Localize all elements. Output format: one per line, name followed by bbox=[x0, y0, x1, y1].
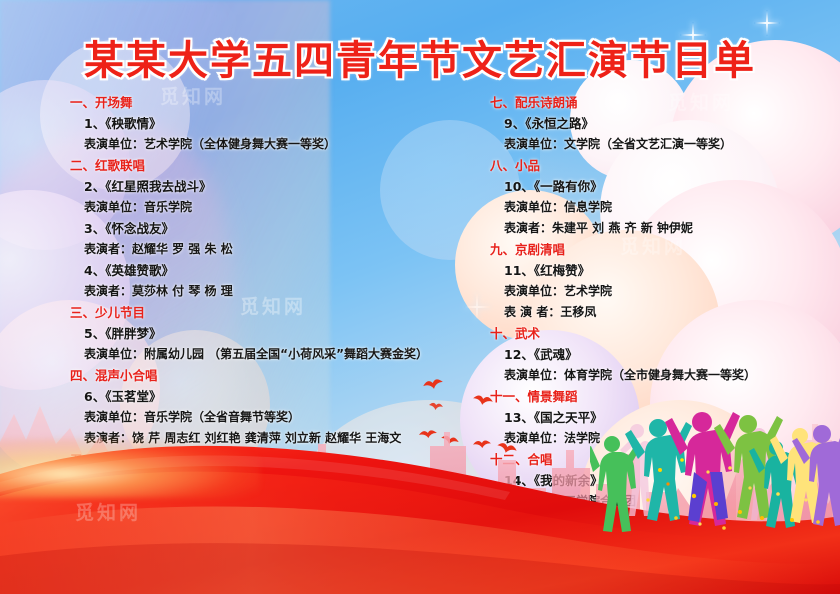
title-band: 某某大学五四青年节文艺汇演节目单 bbox=[0, 28, 840, 86]
program-category: 三、少儿节目 bbox=[70, 302, 425, 323]
program-credit: 表演单位：附属幼儿园 （第五届全国“小荷风采”舞蹈大赛金奖） bbox=[70, 344, 425, 365]
program-category: 四、混声小合唱 bbox=[70, 365, 425, 386]
dancer-silhouettes bbox=[590, 400, 840, 560]
poster-canvas: 某某大学五四青年节文艺汇演节目单 一、开场舞1、《秧歌情》表演单位：艺术学院（全… bbox=[0, 0, 840, 594]
program-item: 1、《秧歌情》 bbox=[70, 113, 425, 134]
program-category: 二、红歌联唱 bbox=[70, 155, 425, 176]
program-category: 八、小品 bbox=[490, 155, 840, 176]
program-credit: 表 演 者：王移凤 bbox=[490, 302, 840, 323]
program-item: 12、《武魂》 bbox=[490, 344, 840, 365]
program-credit: 表演者：朱建平 刘 燕 齐 新 钟伊妮 bbox=[490, 218, 840, 239]
program-credit: 表演者：赵耀华 罗 强 朱 松 bbox=[70, 239, 425, 260]
program-item: 9、《永恒之路》 bbox=[490, 113, 840, 134]
program-category: 七、配乐诗朗诵 bbox=[490, 92, 840, 113]
page-title: 某某大学五四青年节文艺汇演节目单 bbox=[84, 28, 756, 86]
program-credit: 表演单位：艺术学院（全体健身舞大赛一等奖） bbox=[70, 134, 425, 155]
program-item: 11、《红梅赞》 bbox=[490, 260, 840, 281]
program-item: 4、《英雄赞歌》 bbox=[70, 260, 425, 281]
program-item: 5、《胖胖梦》 bbox=[70, 323, 425, 344]
program-item: 10、《一路有你》 bbox=[490, 176, 840, 197]
program-credit: 表演单位：体育学院（全市健身舞大赛一等奖） bbox=[490, 365, 840, 386]
program-item: 3、《怀念战友》 bbox=[70, 218, 425, 239]
program-item: 2、《红星照我去战斗》 bbox=[70, 176, 425, 197]
sun-glow-decoration bbox=[0, 438, 260, 498]
program-credit: 表演单位：音乐学院 bbox=[70, 197, 425, 218]
program-category: 一、开场舞 bbox=[70, 92, 425, 113]
program-credit: 表演者：莫莎林 付 琴 杨 理 bbox=[70, 281, 425, 302]
program-credit: 表演单位：信息学院 bbox=[490, 197, 840, 218]
program-category: 九、京剧清唱 bbox=[490, 239, 840, 260]
program-credit: 表演单位：文学院（全省文艺汇演一等奖） bbox=[490, 134, 840, 155]
program-credit: 表演单位：艺术学院 bbox=[490, 281, 840, 302]
program-category: 十、武术 bbox=[490, 323, 840, 344]
